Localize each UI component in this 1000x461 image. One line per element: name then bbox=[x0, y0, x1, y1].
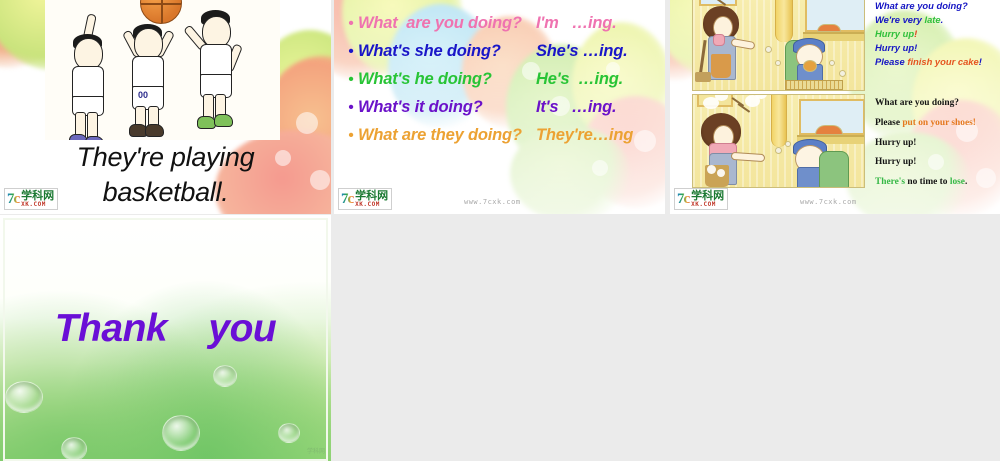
dialogue-block-1: What are you doing? We're very late. Hur… bbox=[875, 0, 1000, 69]
comic-crumb bbox=[817, 24, 841, 32]
comic-pillar bbox=[771, 94, 787, 147]
watermark-url: www.7cxk.com bbox=[800, 198, 857, 206]
comic-crumb bbox=[775, 147, 782, 154]
qa-row: • What's he doing? He's …ing. bbox=[344, 70, 659, 98]
dialogue-span: . bbox=[941, 14, 944, 25]
dialogue-span: ! bbox=[979, 56, 982, 67]
dialogue-span: Hurry up! bbox=[875, 42, 917, 53]
qa-question: What's it doing? bbox=[358, 98, 536, 117]
faint-watermark: 学科网 bbox=[307, 446, 325, 455]
dialogue-span-highlight: put on your shoes! bbox=[902, 118, 976, 128]
dialogue-span-highlight: Hurry up bbox=[875, 28, 914, 39]
qa-answer: I'm …ing. bbox=[536, 14, 659, 33]
watermark-logo: 7c 学科网 XK.COM bbox=[674, 188, 728, 210]
dialogue-span-highlight: There's bbox=[875, 177, 907, 187]
dialogue-span: ! bbox=[914, 28, 917, 39]
water-droplet bbox=[213, 365, 237, 387]
bullet-icon: • bbox=[344, 72, 358, 88]
comic-dish bbox=[815, 125, 843, 135]
logo-domain-text: XK.COM bbox=[21, 202, 54, 208]
bullet-icon: • bbox=[344, 128, 358, 144]
slide-thumbnail-basketball[interactable]: 00 bbox=[0, 0, 331, 214]
logo-7c-text: 7c bbox=[341, 192, 355, 207]
dialogue-span-highlight: lose bbox=[950, 177, 965, 187]
comic-pillar bbox=[775, 0, 793, 42]
qa-question: What are you doing? bbox=[358, 14, 536, 33]
logo-cn-text: 学科网 bbox=[691, 190, 724, 201]
comic-broom-head bbox=[695, 72, 711, 82]
kid-shoe bbox=[214, 114, 233, 127]
dialogue-line: Hurry up! bbox=[875, 41, 1000, 55]
logo-cn-text: 学科网 bbox=[21, 190, 54, 201]
slide1-inner: 00 bbox=[0, 0, 331, 214]
comic-crumb bbox=[765, 46, 772, 53]
jersey-number: 00 bbox=[138, 90, 148, 100]
comic-panel-bottom bbox=[692, 94, 865, 188]
comic-bubbles bbox=[717, 169, 725, 177]
kid-shoe bbox=[145, 124, 164, 137]
kid-torso bbox=[200, 44, 232, 78]
slide3-inner: What are you doing? We're very late. Hur… bbox=[670, 0, 1000, 214]
thank-you-text: Thank you bbox=[0, 307, 331, 351]
comic-crumb bbox=[785, 141, 791, 147]
slide-thumbnail-question-answer[interactable]: • What are you doing? I'm …ing. • What's… bbox=[334, 0, 665, 214]
slide-thumbnail-comic-dialogue[interactable]: What are you doing? We're very late. Hur… bbox=[670, 0, 1000, 214]
comic-crumb bbox=[775, 60, 781, 66]
bokeh-decor bbox=[592, 160, 608, 176]
comic-crumb bbox=[839, 70, 846, 77]
dialogue-line: What are you doing? bbox=[875, 0, 1000, 13]
qa-answer: He's …ing. bbox=[536, 70, 659, 89]
comic-backpack bbox=[819, 151, 849, 188]
logo-domain-text: XK.COM bbox=[691, 202, 724, 208]
bullet-icon: • bbox=[344, 100, 358, 116]
watermark-url: www.7cxk.com bbox=[464, 198, 521, 206]
comic-table-mat bbox=[785, 80, 843, 90]
dialogue-line: Hurry up! bbox=[875, 153, 1000, 173]
kid-torso bbox=[72, 66, 104, 100]
bokeh-decor bbox=[296, 112, 318, 134]
dialogue-span: We're very bbox=[875, 14, 924, 25]
dialogue-line: We're very late. bbox=[875, 13, 1000, 27]
qa-row: • What's it doing? It's …ing. bbox=[344, 98, 659, 126]
dialogue-span: Hurry up! bbox=[875, 157, 916, 167]
dialogue-line: What are you doing? bbox=[875, 94, 1000, 114]
watermark-logo: 7c 学科网 XK.COM bbox=[338, 188, 392, 210]
dialogue-span: Hurry up! bbox=[875, 138, 916, 148]
dialogue-line: Please put on your shoes! bbox=[875, 114, 1000, 134]
dialogue-block-2: What are you doing? Please put on your s… bbox=[875, 94, 1000, 193]
dialogue-span: no time to bbox=[907, 177, 949, 187]
dialogue-span: Please bbox=[875, 118, 902, 128]
logo-cn-block: 学科网 XK.COM bbox=[355, 190, 388, 208]
comic-mom-collar bbox=[713, 34, 725, 46]
dialogue-span: . bbox=[965, 177, 967, 187]
water-droplet bbox=[162, 415, 200, 451]
qa-question: What are they doing? bbox=[358, 126, 536, 145]
slide2-inner: • What are you doing? I'm …ing. • What's… bbox=[334, 0, 665, 214]
logo-7c-text: 7c bbox=[7, 192, 21, 207]
water-droplet bbox=[278, 423, 300, 443]
bullet-icon: • bbox=[344, 16, 358, 32]
dialogue-span-highlight: late bbox=[924, 14, 940, 25]
water-droplet bbox=[5, 381, 43, 413]
qa-row: • What's she doing? She's …ing. bbox=[344, 42, 659, 70]
dialogue-line: There's no time to lose. bbox=[875, 173, 1000, 193]
comic-cake bbox=[803, 60, 817, 72]
qa-list: • What are you doing? I'm …ing. • What's… bbox=[344, 14, 659, 154]
qa-question: What's he doing? bbox=[358, 70, 536, 89]
caption-line-1: They're playing bbox=[0, 140, 331, 175]
comic-panel-top bbox=[692, 0, 865, 91]
comic-strip bbox=[692, 0, 865, 190]
qa-row: • What are you doing? I'm …ing. bbox=[344, 14, 659, 42]
dialogue-span: Please bbox=[875, 56, 907, 67]
screenshot-canvas: 00 bbox=[0, 0, 1000, 461]
slide4-inner: Thank you 学科网 bbox=[0, 215, 331, 461]
comic-mom-apron bbox=[711, 54, 731, 78]
logo-domain-text: XK.COM bbox=[355, 202, 388, 208]
dialogue-span: What are you doing? bbox=[875, 98, 959, 108]
qa-row: • What are they doing? They're…ing bbox=[344, 126, 659, 154]
dialogue-line: Hurry up! bbox=[875, 27, 1000, 41]
dialogue-line: Please finish your cake! bbox=[875, 55, 1000, 69]
qa-answer: They're…ing bbox=[536, 126, 659, 145]
logo-cn-text: 学科网 bbox=[355, 190, 388, 201]
comic-bubbles bbox=[707, 165, 716, 174]
dialogue-span: What are you doing? bbox=[875, 0, 968, 11]
thank-you-label: Thank you bbox=[55, 307, 277, 350]
dialogue-span-highlight: finish your cake bbox=[907, 56, 978, 67]
basketball-illustration: 00 bbox=[45, 0, 280, 140]
dialogue-line: Hurry up! bbox=[875, 134, 1000, 154]
slide-thumbnail-thank-you[interactable]: Thank you 学科网 bbox=[0, 215, 331, 461]
logo-7c-text: 7c bbox=[677, 192, 691, 207]
qa-answer: She's …ing. bbox=[536, 42, 659, 61]
bullet-icon: • bbox=[344, 44, 358, 60]
qa-question: What's she doing? bbox=[358, 42, 536, 61]
kid-torso bbox=[132, 56, 164, 90]
logo-cn-block: 学科网 XK.COM bbox=[21, 190, 54, 208]
qa-answer: It's …ing. bbox=[536, 98, 659, 117]
watermark-logo: 7c 学科网 XK.COM bbox=[4, 188, 58, 210]
water-droplet bbox=[61, 437, 87, 461]
comic-crumb bbox=[829, 60, 835, 66]
logo-cn-block: 学科网 XK.COM bbox=[691, 190, 724, 208]
kid-right bbox=[189, 4, 263, 136]
